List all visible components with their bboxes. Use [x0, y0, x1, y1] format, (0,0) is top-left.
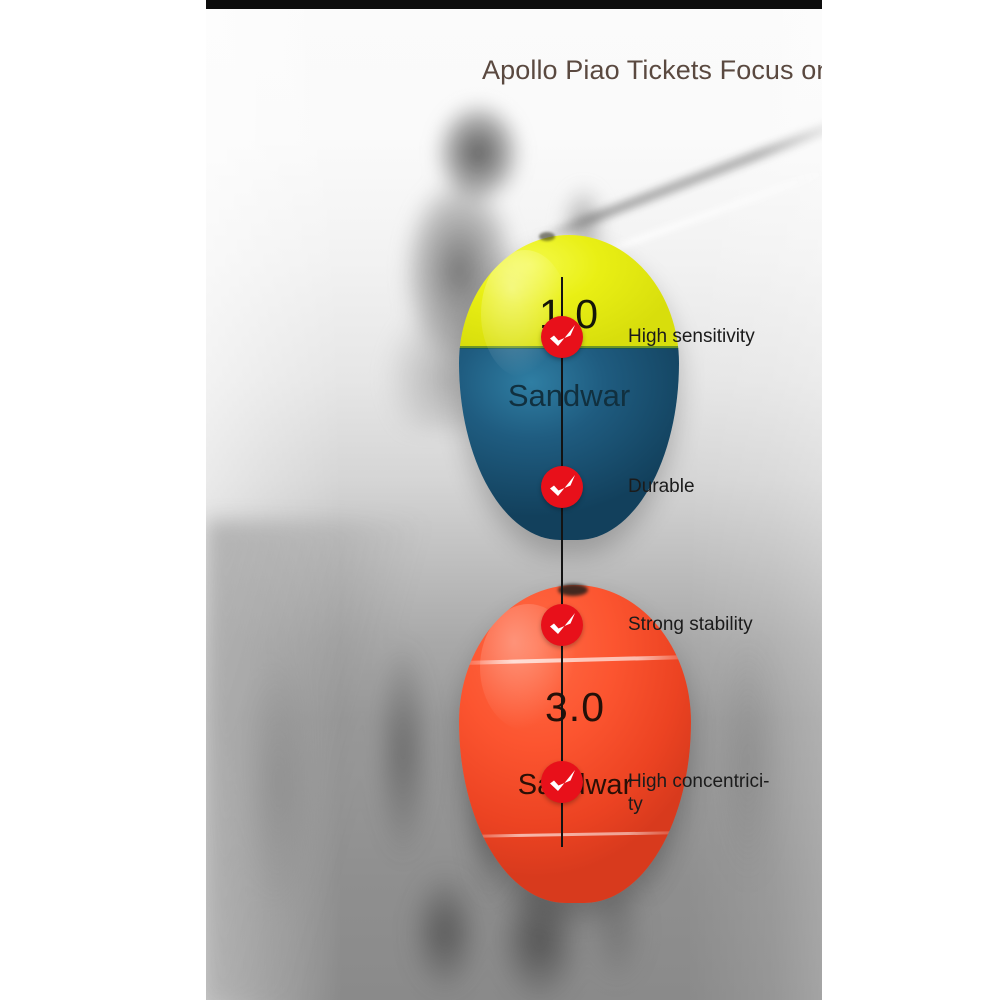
check-circle-icon — [541, 466, 583, 508]
float-antenna-nib — [539, 232, 555, 241]
feature-label: Durable — [628, 475, 796, 498]
float-size-label: 3.0 — [459, 684, 691, 731]
feature-label: Strong stability — [628, 613, 796, 636]
check-circle-icon — [541, 316, 583, 358]
float-brand-label: Sandwar — [459, 378, 679, 414]
float-bottom-half — [459, 348, 679, 540]
check-circle-icon — [541, 604, 583, 646]
feature-label: High concentrici- ty — [628, 770, 796, 816]
top-black-bar — [206, 0, 822, 9]
feature-timeline-line: High sensitivity Durable Strong stabilit… — [561, 277, 563, 847]
float-stripe-bottom — [468, 831, 681, 838]
product-banner: Apollo Piao Tickets Focus on Quality 1.0… — [206, 0, 822, 1000]
check-circle-icon — [541, 761, 583, 803]
product-banner-page: Apollo Piao Tickets Focus on Quality 1.0… — [0, 0, 1000, 1000]
feature-label: High sensitivity — [628, 325, 796, 348]
page-title: Apollo Piao Tickets Focus on Quality — [482, 52, 822, 88]
